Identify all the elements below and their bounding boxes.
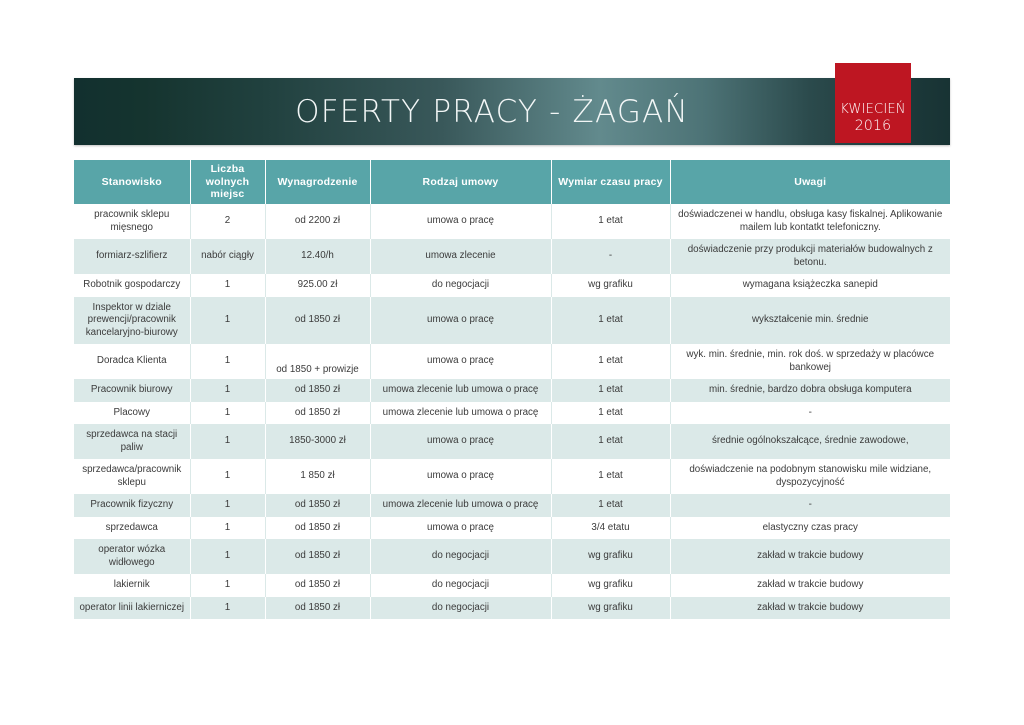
cell-liczba-miejsc: 1 (190, 459, 265, 494)
table-row: sprzedawca na stacji paliw11850-3000 złu… (74, 424, 950, 459)
table-header: Stanowisko Liczba wolnych miejsc Wynagro… (74, 160, 950, 204)
badge-year-label: 2016 (855, 118, 891, 135)
cell-wymiar-czasu: 1 etat (551, 459, 670, 494)
cell-liczba-miejsc: 2 (190, 204, 265, 239)
cell-rodzaj-umowy: umowa o pracę (370, 424, 551, 459)
cell-uwagi: wyk. min. średnie, min. rok doś. w sprze… (670, 344, 950, 379)
cell-wynagrodzenie: od 1850 zł (265, 539, 370, 574)
cell-wynagrodzenie: od 1850 zł (265, 597, 370, 620)
cell-liczba-miejsc: 1 (190, 402, 265, 425)
cell-rodzaj-umowy: umowa zlecenie lub umowa o pracę (370, 494, 551, 517)
table-row: sprzedawca1od 1850 złumowa o pracę3/4 et… (74, 517, 950, 540)
cell-liczba-miejsc: 1 (190, 597, 265, 620)
table-row: lakiernik1od 1850 złdo negocjacjiwg graf… (74, 574, 950, 597)
cell-rodzaj-umowy: umowa o pracę (370, 297, 551, 345)
table-row: operator wózka widłowego1od 1850 złdo ne… (74, 539, 950, 574)
cell-rodzaj-umowy: umowa o pracę (370, 204, 551, 239)
cell-wynagrodzenie: 925.00 zł (265, 274, 370, 297)
cell-wymiar-czasu: 1 etat (551, 297, 670, 345)
cell-wynagrodzenie: od 1850 zł (265, 297, 370, 345)
page-header-banner: OFERTY PRACY - ŻAGAŃ KWIECIEŃ 2016 (74, 78, 950, 145)
cell-wymiar-czasu: - (551, 239, 670, 274)
cell-wynagrodzenie: od 1850 zł (265, 517, 370, 540)
cell-uwagi: doświadczenei w handlu, obsługa kasy fis… (670, 204, 950, 239)
cell-stanowisko: sprzedawca (74, 517, 190, 540)
cell-stanowisko: operator linii lakierniczej (74, 597, 190, 620)
cell-wynagrodzenie: 12.40/h (265, 239, 370, 274)
cell-wymiar-czasu: wg grafiku (551, 539, 670, 574)
table-row: formiarz-szlifierznabór ciągły12.40/humo… (74, 239, 950, 274)
cell-rodzaj-umowy: umowa zlecenie lub umowa o pracę (370, 402, 551, 425)
cell-liczba-miejsc: 1 (190, 274, 265, 297)
cell-rodzaj-umowy: umowa zlecenie (370, 239, 551, 274)
cell-rodzaj-umowy: do negocjacji (370, 539, 551, 574)
table-row: Placowy1od 1850 złumowa zlecenie lub umo… (74, 402, 950, 425)
table-row: sprzedawca/pracownik sklepu11 850 złumow… (74, 459, 950, 494)
cell-rodzaj-umowy: do negocjacji (370, 274, 551, 297)
cell-uwagi: min. średnie, bardzo dobra obsługa kompu… (670, 379, 950, 402)
column-header-rodzaj-umowy: Rodzaj umowy (370, 160, 551, 204)
page-title: OFERTY PRACY - ŻAGAŃ (74, 78, 950, 145)
cell-wynagrodzenie: od 1850 zł (265, 574, 370, 597)
cell-wynagrodzenie: 1 850 zł (265, 459, 370, 494)
cell-uwagi: zakład w trakcie budowy (670, 539, 950, 574)
cell-stanowisko: formiarz-szlifierz (74, 239, 190, 274)
cell-stanowisko: Placowy (74, 402, 190, 425)
cell-wymiar-czasu: wg grafiku (551, 574, 670, 597)
column-header-uwagi: Uwagi (670, 160, 950, 204)
badge-month-label: KWIECIEŃ (840, 101, 905, 118)
cell-wynagrodzenie: od 2200 zł (265, 204, 370, 239)
column-header-liczba-miejsc: Liczba wolnych miejsc (190, 160, 265, 204)
cell-stanowisko: lakiernik (74, 574, 190, 597)
cell-wymiar-czasu: 1 etat (551, 402, 670, 425)
table-row: Robotnik gospodarczy1925.00 złdo negocja… (74, 274, 950, 297)
table-header-row: Stanowisko Liczba wolnych miejsc Wynagro… (74, 160, 950, 204)
cell-rodzaj-umowy: umowa o pracę (370, 459, 551, 494)
table-row: Doradca Klienta1od 1850 + prowizjeumowa … (74, 344, 950, 379)
job-offers-table: Stanowisko Liczba wolnych miejsc Wynagro… (74, 160, 950, 619)
cell-liczba-miejsc: 1 (190, 344, 265, 379)
cell-rodzaj-umowy: umowa o pracę (370, 344, 551, 379)
cell-liczba-miejsc: 1 (190, 424, 265, 459)
cell-wynagrodzenie: od 1850 zł (265, 379, 370, 402)
cell-liczba-miejsc: 1 (190, 517, 265, 540)
cell-wymiar-czasu: 1 etat (551, 424, 670, 459)
cell-stanowisko: sprzedawca/pracownik sklepu (74, 459, 190, 494)
cell-wymiar-czasu: wg grafiku (551, 597, 670, 620)
cell-uwagi: doświadczenie przy produkcji materiałów … (670, 239, 950, 274)
cell-uwagi: doświadczenie na podobnym stanowisku mil… (670, 459, 950, 494)
cell-stanowisko: Doradca Klienta (74, 344, 190, 379)
cell-uwagi: - (670, 402, 950, 425)
cell-liczba-miejsc: 1 (190, 494, 265, 517)
cell-stanowisko: Inspektor w dziale prewencji/pracownik k… (74, 297, 190, 345)
cell-stanowisko: Robotnik gospodarczy (74, 274, 190, 297)
cell-uwagi: średnie ogólnokszałcące, średnie zawodow… (670, 424, 950, 459)
table-row: Pracownik biurowy1od 1850 złumowa zlecen… (74, 379, 950, 402)
cell-liczba-miejsc: 1 (190, 574, 265, 597)
table-body: pracownik sklepu mięsnego2od 2200 złumow… (74, 204, 950, 619)
cell-stanowisko: pracownik sklepu mięsnego (74, 204, 190, 239)
cell-wymiar-czasu: 1 etat (551, 204, 670, 239)
column-header-stanowisko: Stanowisko (74, 160, 190, 204)
cell-uwagi: zakład w trakcie budowy (670, 574, 950, 597)
cell-liczba-miejsc: 1 (190, 297, 265, 345)
cell-rodzaj-umowy: umowa o pracę (370, 517, 551, 540)
cell-rodzaj-umowy: do negocjacji (370, 597, 551, 620)
cell-wynagrodzenie: od 1850 zł (265, 402, 370, 425)
cell-wynagrodzenie: 1850-3000 zł (265, 424, 370, 459)
cell-liczba-miejsc: nabór ciągły (190, 239, 265, 274)
table-row: operator linii lakierniczej1od 1850 złdo… (74, 597, 950, 620)
cell-rodzaj-umowy: umowa zlecenie lub umowa o pracę (370, 379, 551, 402)
cell-wymiar-czasu: 3/4 etatu (551, 517, 670, 540)
cell-wymiar-czasu: 1 etat (551, 494, 670, 517)
cell-wymiar-czasu: 1 etat (551, 379, 670, 402)
cell-wymiar-czasu: wg grafiku (551, 274, 670, 297)
cell-stanowisko: operator wózka widłowego (74, 539, 190, 574)
cell-wymiar-czasu: 1 etat (551, 344, 670, 379)
cell-uwagi: - (670, 494, 950, 517)
cell-uwagi: elastyczny czas pracy (670, 517, 950, 540)
cell-liczba-miejsc: 1 (190, 539, 265, 574)
cell-wynagrodzenie: od 1850 zł (265, 494, 370, 517)
month-badge: KWIECIEŃ 2016 (835, 63, 911, 143)
table-row: Inspektor w dziale prewencji/pracownik k… (74, 297, 950, 345)
cell-liczba-miejsc: 1 (190, 379, 265, 402)
column-header-wymiar-czasu: Wymiar czasu pracy (551, 160, 670, 204)
table-row: pracownik sklepu mięsnego2od 2200 złumow… (74, 204, 950, 239)
table-row: Pracownik fizyczny1od 1850 złumowa zlece… (74, 494, 950, 517)
cell-stanowisko: Pracownik biurowy (74, 379, 190, 402)
cell-stanowisko: Pracownik fizyczny (74, 494, 190, 517)
cell-rodzaj-umowy: do negocjacji (370, 574, 551, 597)
cell-uwagi: wymagana książeczka sanepid (670, 274, 950, 297)
cell-uwagi: wykształcenie min. średnie (670, 297, 950, 345)
cell-wynagrodzenie: od 1850 + prowizje (265, 344, 370, 379)
cell-uwagi: zakład w trakcie budowy (670, 597, 950, 620)
cell-stanowisko: sprzedawca na stacji paliw (74, 424, 190, 459)
column-header-wynagrodzenie: Wynagrodzenie (265, 160, 370, 204)
